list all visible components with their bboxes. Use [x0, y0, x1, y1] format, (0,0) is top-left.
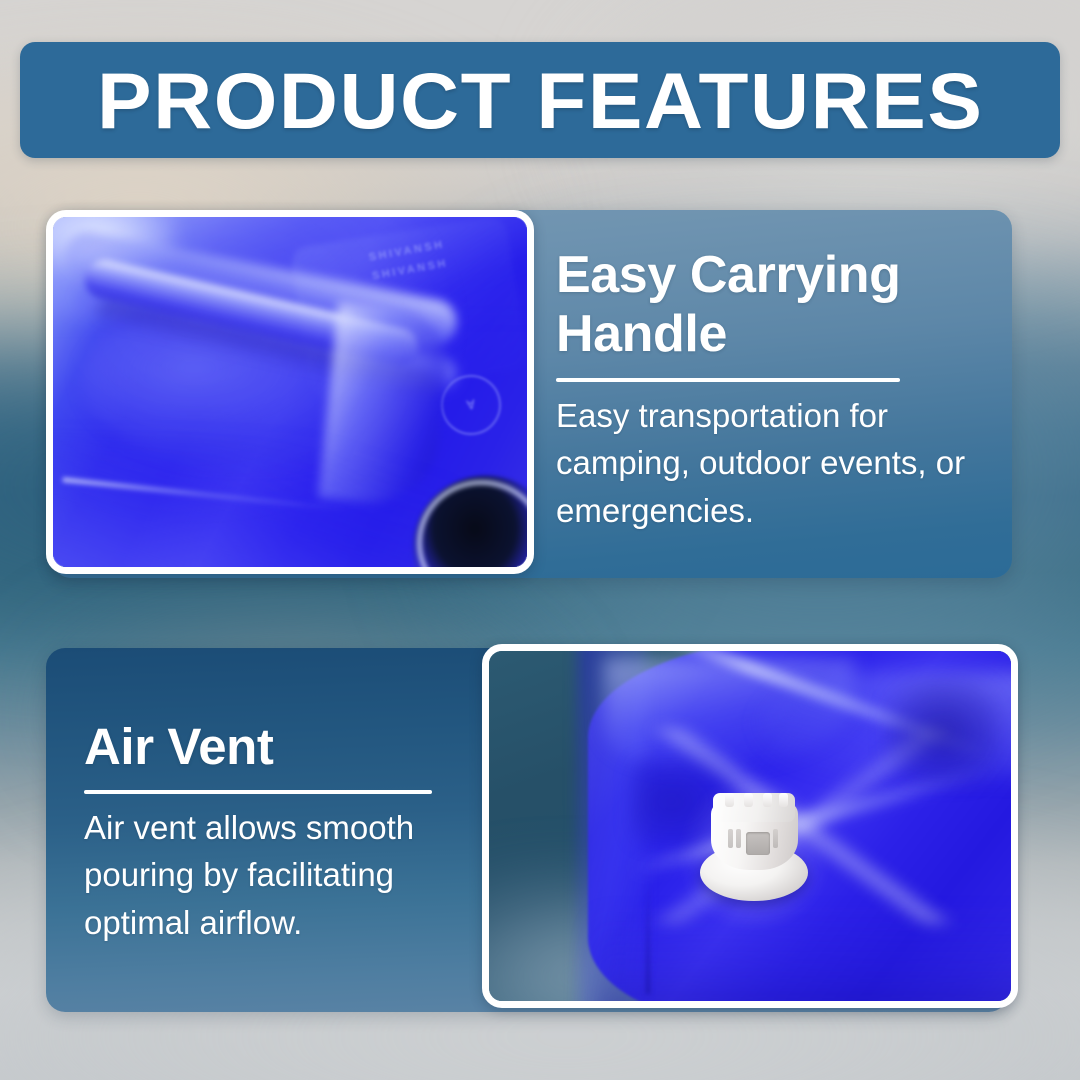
air-vent-cap-notch	[779, 793, 788, 807]
feature-text-air-vent: Air Vent Air vent allows smooth pouring …	[84, 718, 456, 946]
header-banner: PRODUCT FEATURES	[20, 42, 1060, 158]
infographic-page: PRODUCT FEATURES SHIVANSH SHIVANSH ∀	[0, 0, 1080, 1080]
air-vent-cap-rib	[736, 829, 741, 848]
feature-image-air-vent	[482, 644, 1018, 1008]
air-vent-cap-notch	[763, 793, 772, 807]
air-vent-cap-rib	[728, 829, 733, 848]
feature-title: Air Vent	[84, 718, 456, 776]
air-vent-cap	[700, 791, 808, 901]
feature-description: Air vent allows smooth pouring by facili…	[84, 804, 456, 947]
air-vent-photo	[489, 651, 1011, 1001]
air-vent-cap-slot	[746, 832, 770, 855]
air-vent-photo-shadow-right	[886, 679, 1001, 784]
handle-photo: SHIVANSH SHIVANSH ∀	[53, 217, 527, 567]
page-title: PRODUCT FEATURES	[97, 61, 983, 140]
feature-title: Easy Carrying Handle	[556, 246, 976, 364]
air-vent-cap-notch	[744, 793, 753, 807]
air-vent-photo-seam	[646, 882, 650, 994]
feature-text-easy-carrying-handle: Easy Carrying Handle Easy transportation…	[556, 246, 976, 534]
air-vent-cap-rib	[773, 829, 778, 848]
feature-divider	[556, 378, 900, 382]
air-vent-photo-bottom-shadow	[593, 910, 1011, 1001]
air-vent-cap-top	[713, 793, 795, 822]
handle-photo-sheen	[53, 217, 527, 567]
feature-divider	[84, 790, 432, 794]
air-vent-cap-notch	[725, 793, 734, 807]
feature-description: Easy transportation for camping, outdoor…	[556, 392, 976, 535]
feature-image-easy-carrying-handle: SHIVANSH SHIVANSH ∀	[46, 210, 534, 574]
